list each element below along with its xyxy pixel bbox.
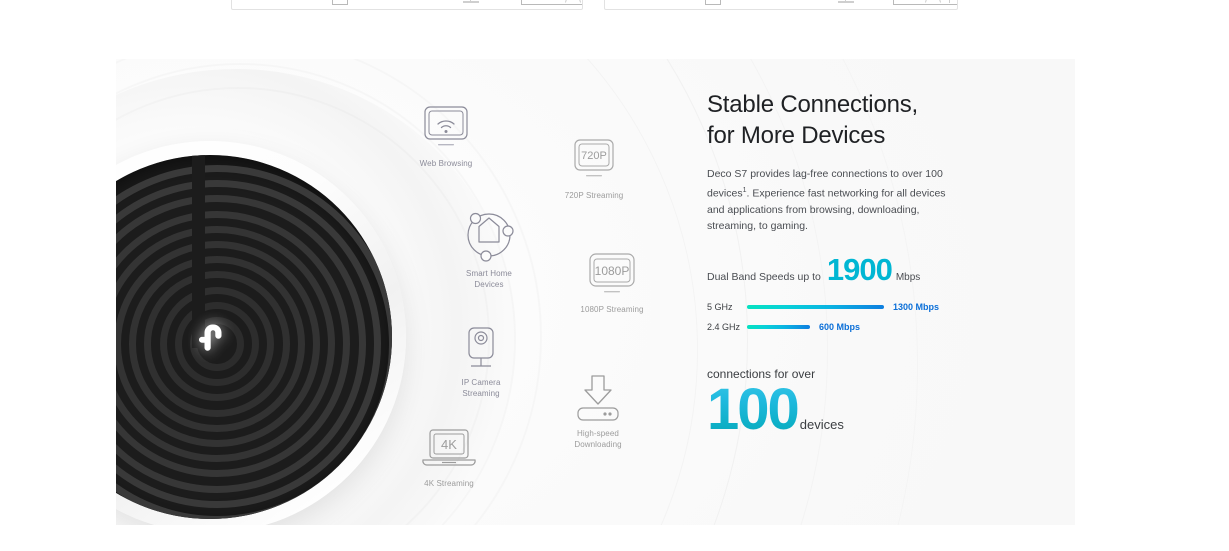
dual-band-unit: Mbps <box>896 272 920 283</box>
svg-text:4K: 4K <box>441 437 457 452</box>
download-drive-icon <box>543 371 653 423</box>
band-label: 5 GHz <box>707 302 747 312</box>
ip-camera-icon <box>426 322 536 372</box>
speed-bar-row: 2.4 GHz 600 Mbps <box>707 319 1037 335</box>
band-value: 1300 Mbps <box>893 302 939 312</box>
feature-smart-home[interactable]: Smart Home Devices <box>434 207 544 290</box>
svg-text:720P: 720P <box>581 150 607 162</box>
devices-count: 100 <box>707 379 798 441</box>
feature-label: 720P Streaming <box>539 190 649 201</box>
feature-ip-camera[interactable]: IP Camera Streaming <box>426 322 536 399</box>
feature-high-speed-downloading[interactable]: High-speed Downloading <box>543 371 653 450</box>
feature-label: Smart Home Devices <box>434 268 544 290</box>
laptop-4k-icon: 4K <box>394 425 504 473</box>
description-paragraph: Deco S7 provides lag-free connections to… <box>707 166 959 235</box>
content-pane: Stable Connections, for More Devices Dec… <box>707 89 1037 441</box>
devices-count-group: 100 devices <box>707 379 1037 441</box>
monitor-1080p-icon: 1080P <box>557 251 667 299</box>
speed-bars: 5 GHz 1300 Mbps 2.4 GHz 600 Mbps <box>707 299 1037 335</box>
feature-label: Web Browsing <box>391 158 501 169</box>
stable-connections-banner: Web Browsing Smart Home Devices IP Camer <box>116 59 1075 525</box>
heading-line-2: for More Devices <box>707 120 1037 151</box>
dual-band-value: 1900 <box>827 254 892 285</box>
partial-card-left[interactable] <box>231 0 583 10</box>
band-value: 600 Mbps <box>819 322 860 332</box>
band-bar-5ghz <box>747 305 884 309</box>
top-partial-strip <box>0 0 1229 12</box>
feature-web-browsing[interactable]: Web Browsing <box>391 99 501 169</box>
feature-720p-streaming[interactable]: 720P 720P Streaming <box>539 137 649 201</box>
dual-band-speed: Dual Band Speeds up to 1900 Mbps <box>707 254 1037 285</box>
partial-card-right[interactable] <box>604 0 958 10</box>
band-bar-24ghz <box>747 325 810 329</box>
speed-bar-row: 5 GHz 1300 Mbps <box>707 299 1037 315</box>
smart-home-icon <box>434 207 544 263</box>
feature-4k-streaming[interactable]: 4K 4K Streaming <box>394 425 504 489</box>
svg-text:1080P: 1080P <box>595 264 630 278</box>
feature-label: 1080P Streaming <box>557 304 667 315</box>
page-title: Stable Connections, for More Devices <box>707 89 1037 151</box>
dual-band-label: Dual Band Speeds up to <box>707 271 821 283</box>
band-label: 2.4 GHz <box>707 322 747 332</box>
feature-label: 4K Streaming <box>394 478 504 489</box>
tp-link-logo <box>187 314 233 360</box>
devices-label: devices <box>800 417 844 432</box>
tablet-wifi-icon <box>391 99 501 153</box>
heading-line-1: Stable Connections, <box>707 89 1037 120</box>
feature-label: IP Camera Streaming <box>426 377 536 399</box>
feature-1080p-streaming[interactable]: 1080P 1080P Streaming <box>557 251 667 315</box>
feature-label: High-speed Downloading <box>543 428 653 450</box>
monitor-720p-icon: 720P <box>539 137 649 185</box>
